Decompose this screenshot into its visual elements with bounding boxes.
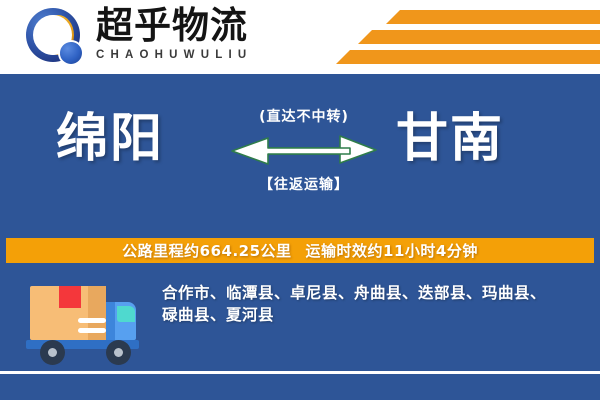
truck-wheel-rear [40,340,65,365]
header-stripes-decoration [330,6,600,68]
double-headed-arrow-icon [228,132,380,168]
truck-stripe-2 [78,328,106,333]
coverage-row: 合作市、临潭县、卓尼县、舟曲县、迭部县、玛曲县、 碌曲县、夏河县 [0,270,600,400]
destination-city: 甘南 [396,108,504,170]
round-trip-note: 【往返运输】 [228,176,380,194]
brand-name-block: 超乎物流 CHAOHUWULIU [96,6,252,62]
truck-window [117,306,135,322]
banner-body: 绵阳 (直达不中转) 【往返运输】 甘南 公路里程约664.25公里运输时效约1… [0,74,600,400]
brand-header: 超乎物流 CHAOHUWULIU [0,0,600,74]
coverage-area-list: 合作市、临潭县、卓尼县、舟曲县、迭部县、玛曲县、 碌曲县、夏河县 [162,282,582,326]
truck-wheel-front [106,340,131,365]
route-middle-group: (直达不中转) 【往返运输】 [228,108,380,218]
direct-route-note: (直达不中转) [228,108,380,126]
header-stripe-3 [350,50,600,64]
header-stripe-2 [372,30,600,44]
truck-cab-shade [106,302,115,340]
origin-city: 绵阳 [56,108,164,170]
truck-stripe-1 [78,318,106,323]
truck-wheel-hub [48,348,57,357]
coverage-line-1: 合作市、临潭县、卓尼县、舟曲县、迭部县、玛曲县、 [162,282,582,304]
header-stripe-1 [400,10,600,24]
info-bar-content: 公路里程约664.25公里运输时效约11小时4分钟 [122,240,478,261]
distance-text: 公路里程约664.25公里 [122,242,291,260]
brand-name-pinyin: CHAOHUWULIU [96,48,252,62]
delivery-truck-icon [26,278,154,364]
duration-text: 运输时效约11小时4分钟 [306,242,478,260]
coverage-line-2: 碌曲县、夏河县 [162,304,582,326]
route-info-bar: 公路里程约664.25公里运输时效约11小时4分钟 [6,238,594,263]
bottom-divider [0,371,600,374]
truck-wheel-hub [114,348,123,357]
truck-cargo-label [59,286,81,308]
logistics-route-banner: 超乎物流 CHAOHUWULIU 绵阳 (直达不中转) [0,0,600,400]
route-row: 绵阳 (直达不中转) 【往返运输】 甘南 [0,74,600,234]
logo-dot-shape [60,42,82,64]
brand-name-cn: 超乎物流 [96,6,252,46]
brand-logo-icon [26,8,86,66]
